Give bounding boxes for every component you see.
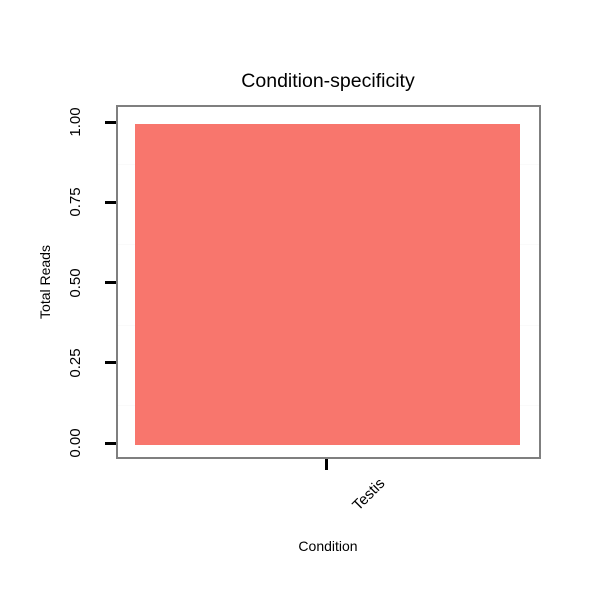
chart-title: Condition-specificity (28, 70, 600, 93)
plot-area (118, 107, 539, 457)
y-axis-title: Total Reads (36, 222, 54, 342)
y-axis-tick (105, 361, 116, 364)
x-axis-title: Condition (28, 538, 600, 554)
bar-testis[interactable] (135, 124, 520, 445)
y-axis-tick-label: 0.75 (67, 179, 85, 225)
chart-figure: Condition-specificity 0.000.250.500.751.… (0, 0, 600, 600)
plot-panel (116, 105, 541, 459)
y-axis-tick-label: 0.50 (67, 260, 85, 306)
y-axis-tick (105, 281, 116, 284)
y-axis-tick (105, 201, 116, 204)
y-axis-tick-label: 0.25 (67, 340, 85, 386)
y-axis-tick-label: 1.00 (67, 99, 85, 145)
y-axis-tick (105, 442, 116, 445)
x-axis-tick-label: Testis (349, 475, 388, 514)
y-axis-tick-label: 0.00 (67, 420, 85, 466)
y-axis-tick (105, 121, 116, 124)
x-axis-tick (325, 459, 328, 470)
